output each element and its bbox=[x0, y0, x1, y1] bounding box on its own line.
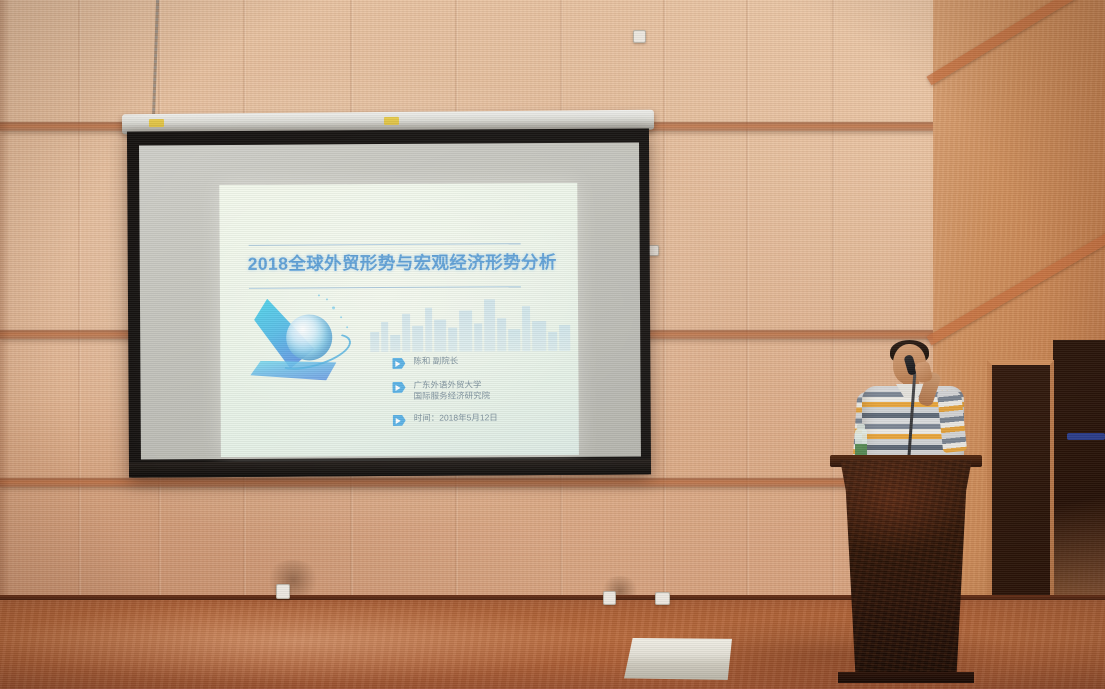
bullet-arrow-icon bbox=[392, 382, 405, 393]
wall-panel-seam bbox=[663, 0, 666, 619]
slide-title: 2018全球外贸形势与宏观经济形势分析 bbox=[248, 249, 548, 276]
city-skyline-silhouette bbox=[370, 291, 570, 352]
wall-fitting bbox=[633, 30, 646, 43]
list-item: 广东外语外贸大学 国际服务经济研究院 bbox=[392, 379, 572, 402]
projection-screen: 2018全球外贸形势与宏观经济形势分析 bbox=[127, 128, 651, 477]
podium-wood-texture bbox=[836, 460, 976, 678]
recessed-doorway[interactable] bbox=[987, 360, 1054, 633]
wall-outlet[interactable] bbox=[276, 584, 290, 599]
bullet-text: 广东外语外贸大学 国际服务经济研究院 bbox=[413, 379, 490, 401]
list-item: 陈和 副院长 bbox=[392, 355, 572, 369]
alcove-shadow bbox=[1053, 340, 1105, 630]
screen-surface: 2018全球外贸形势与宏观经济形势分析 bbox=[139, 142, 641, 459]
bullet-text: 陈和 副院长 bbox=[413, 356, 458, 367]
podium-base bbox=[838, 672, 974, 683]
blue-handrail bbox=[1067, 433, 1105, 440]
wall-outlet[interactable] bbox=[603, 591, 616, 605]
alcove-shadow bbox=[992, 365, 1050, 633]
list-item: 时间：2018年5月12日 bbox=[393, 412, 573, 426]
white-box-on-floor bbox=[624, 638, 732, 680]
screen-weight-bar bbox=[129, 459, 651, 477]
housing-sticker bbox=[384, 117, 399, 125]
projected-slide: 2018全球外贸形势与宏观经济形势分析 bbox=[219, 183, 579, 457]
housing-sticker bbox=[149, 119, 164, 127]
light-switch[interactable] bbox=[655, 592, 670, 605]
podium[interactable] bbox=[836, 460, 976, 678]
laptop-globe-graphic bbox=[240, 292, 366, 398]
bullet-arrow-icon bbox=[392, 358, 405, 369]
wall-panel-seam bbox=[746, 0, 749, 619]
wall-panel-seam bbox=[832, 0, 835, 619]
wall-rail bbox=[0, 478, 938, 487]
bottle-label bbox=[855, 444, 867, 455]
photograph-scene: 2018全球外贸形势与宏观经济形势分析 bbox=[0, 0, 1105, 689]
wall-corner-shadow bbox=[0, 0, 10, 619]
recessed-doorway-far[interactable] bbox=[1053, 340, 1105, 630]
slide-bullet-list: 陈和 副院长 广东外语外贸大学 国际服务经济研究院 时间：2018年5月12日 bbox=[392, 355, 572, 437]
bullet-text: 时间：2018年5月12日 bbox=[414, 412, 498, 424]
wall-panel-seam bbox=[78, 0, 81, 619]
bullet-arrow-icon bbox=[393, 415, 406, 426]
wall-smudge bbox=[265, 560, 321, 600]
